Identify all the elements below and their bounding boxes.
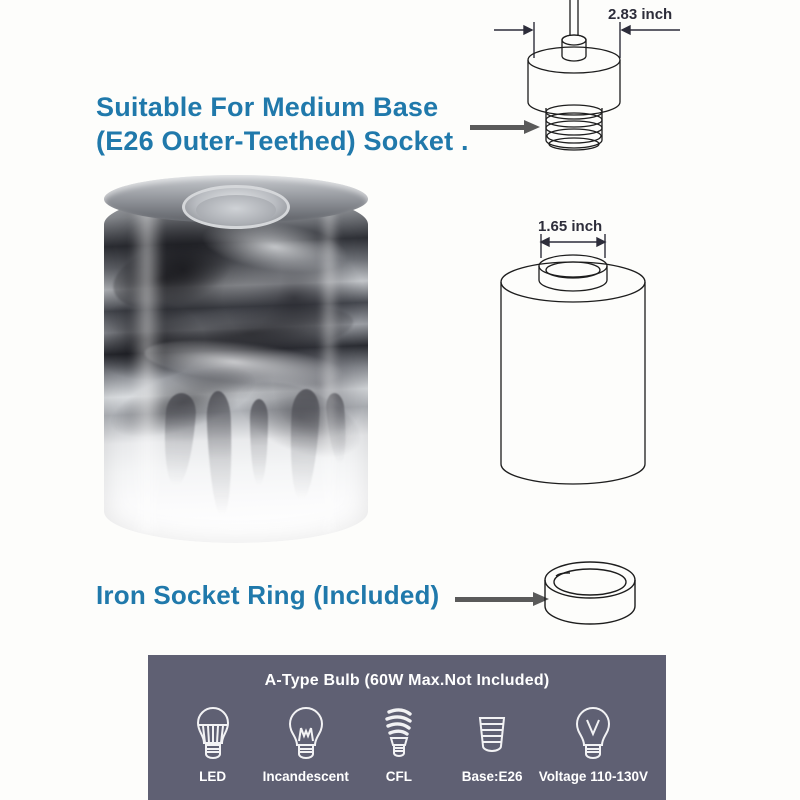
iron-socket-ring-drawing [520,552,670,648]
e26-threaded-socket-drawing [492,0,682,180]
shade-neck-inner [196,195,276,225]
spec-item-incandescent: Incandescent [259,704,352,784]
shade-body [104,193,368,543]
spec-label-base: Base:E26 [462,769,523,784]
glass-highlight [318,203,340,533]
cfl-spiral-bulb-icon [375,704,423,762]
spec-item-voltage: Voltage 110-130V [539,704,648,784]
callout-medium-base-line2: (E26 Outer-Teethed) Socket . [96,124,469,158]
banner-title: A-Type Bulb (60W Max.Not Included) [148,655,666,690]
voltage-bulb-icon [569,704,617,762]
spec-icon-row: LED [148,690,666,784]
incandescent-bulb-icon [282,704,330,762]
marble-drip [206,391,234,516]
marble-swirl-glass-shade [104,175,368,553]
spec-item-base: Base:E26 [446,704,539,784]
spec-label-incandescent: Incandescent [263,769,349,784]
spec-label-cfl: CFL [386,769,412,784]
spec-label-voltage: Voltage 110-130V [539,769,648,784]
callout-medium-base-line1: Suitable For Medium Base [96,92,438,122]
spec-label-led: LED [199,769,226,784]
marble-drip [287,388,321,499]
callout-medium-base: Suitable For Medium Base (E26 Outer-Teet… [96,90,469,158]
bulb-spec-banner: A-Type Bulb (60W Max.Not Included) [148,655,666,800]
cylinder-glass-shade-drawing [462,212,682,512]
led-bulb-icon [189,704,237,762]
product-infographic: Suitable For Medium Base (E26 Outer-Teet… [0,0,800,800]
marble-drip [250,399,268,485]
spec-item-cfl: CFL [352,704,445,784]
spec-item-led: LED [166,704,259,784]
callout-socket-ring: Iron Socket Ring (Included) [96,580,439,611]
marble-drip [161,392,197,486]
glass-highlight [130,203,164,533]
callout-socket-ring-label: Iron Socket Ring (Included) [96,580,439,610]
e26-base-icon [468,704,516,762]
